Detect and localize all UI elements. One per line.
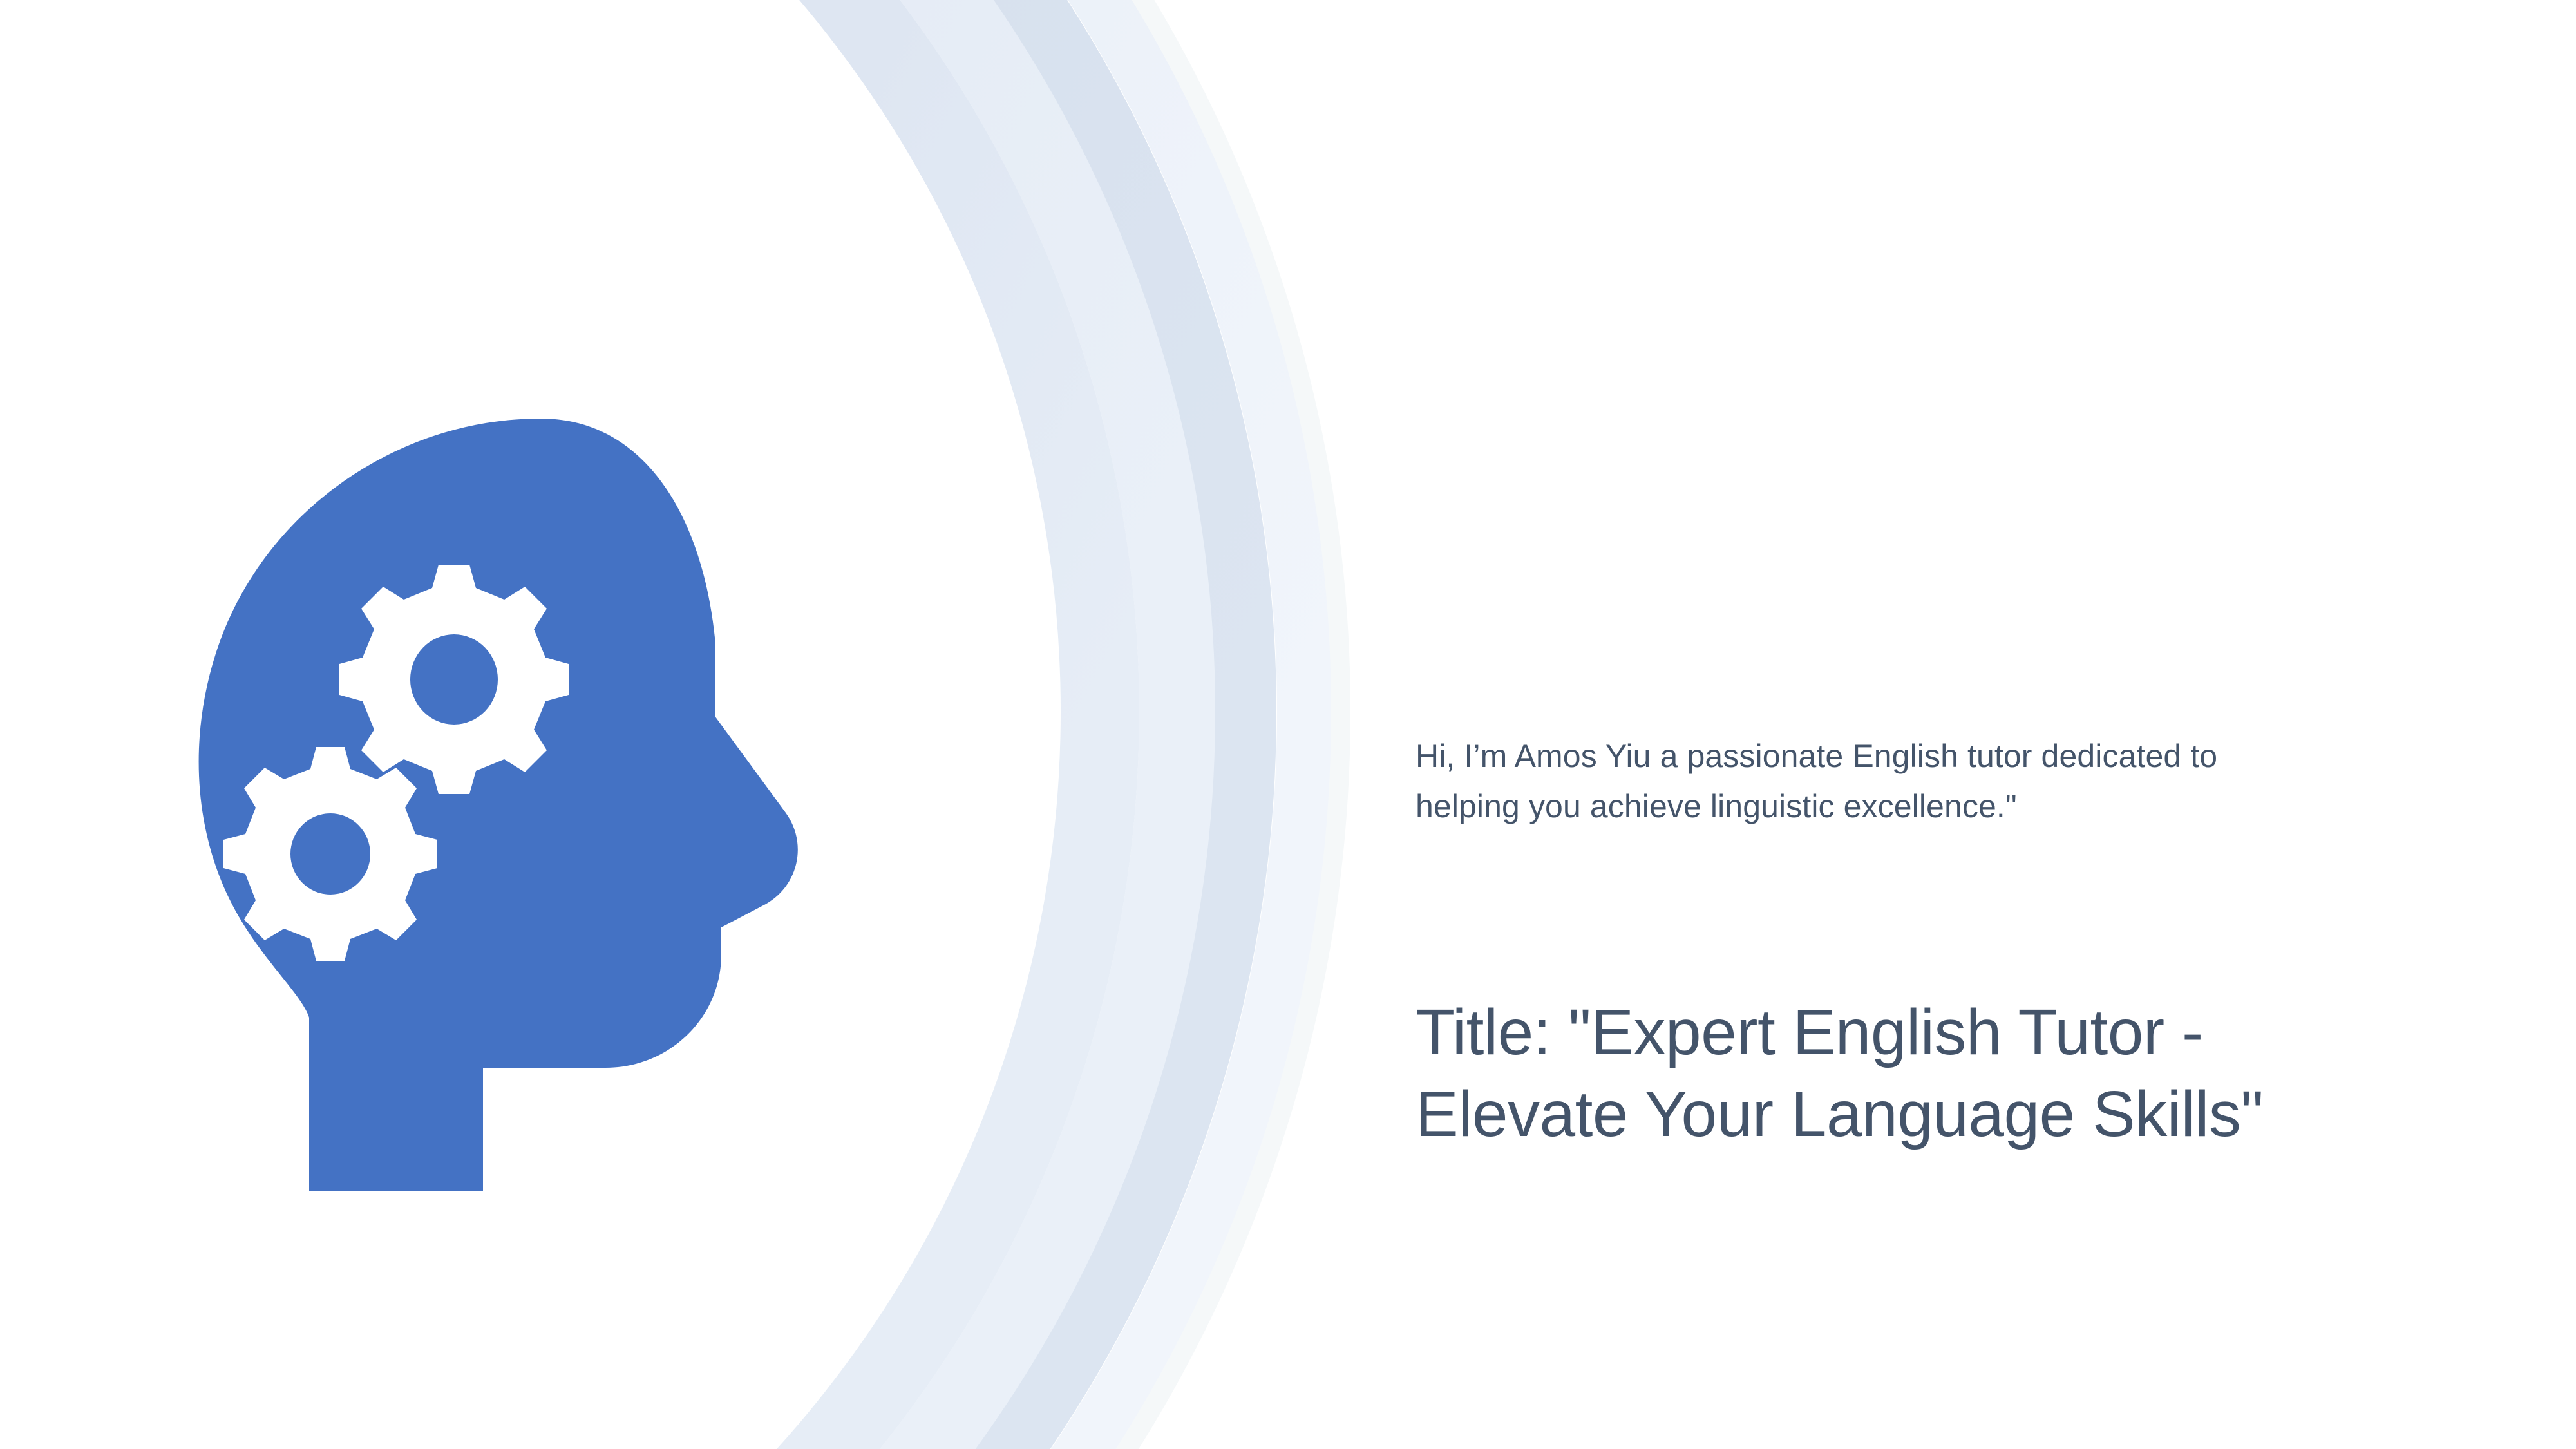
gear-upper-hub [410,634,498,724]
gear-lower-icon [223,747,437,961]
slide-canvas: Hi, I’m Amos Yiu a passionate English tu… [0,0,2576,1449]
slide-title: Title: "Expert English Tutor - Elevate Y… [1416,992,2272,1155]
intro-paragraph: Hi, I’m Amos Yiu a passionate English tu… [1416,731,2240,831]
gear-lower-hub [290,813,370,895]
body-text-block: Hi, I’m Amos Yiu a passionate English tu… [1416,731,2240,831]
head-with-gears-icon [180,419,863,1191]
gear-upper-icon [339,565,569,794]
